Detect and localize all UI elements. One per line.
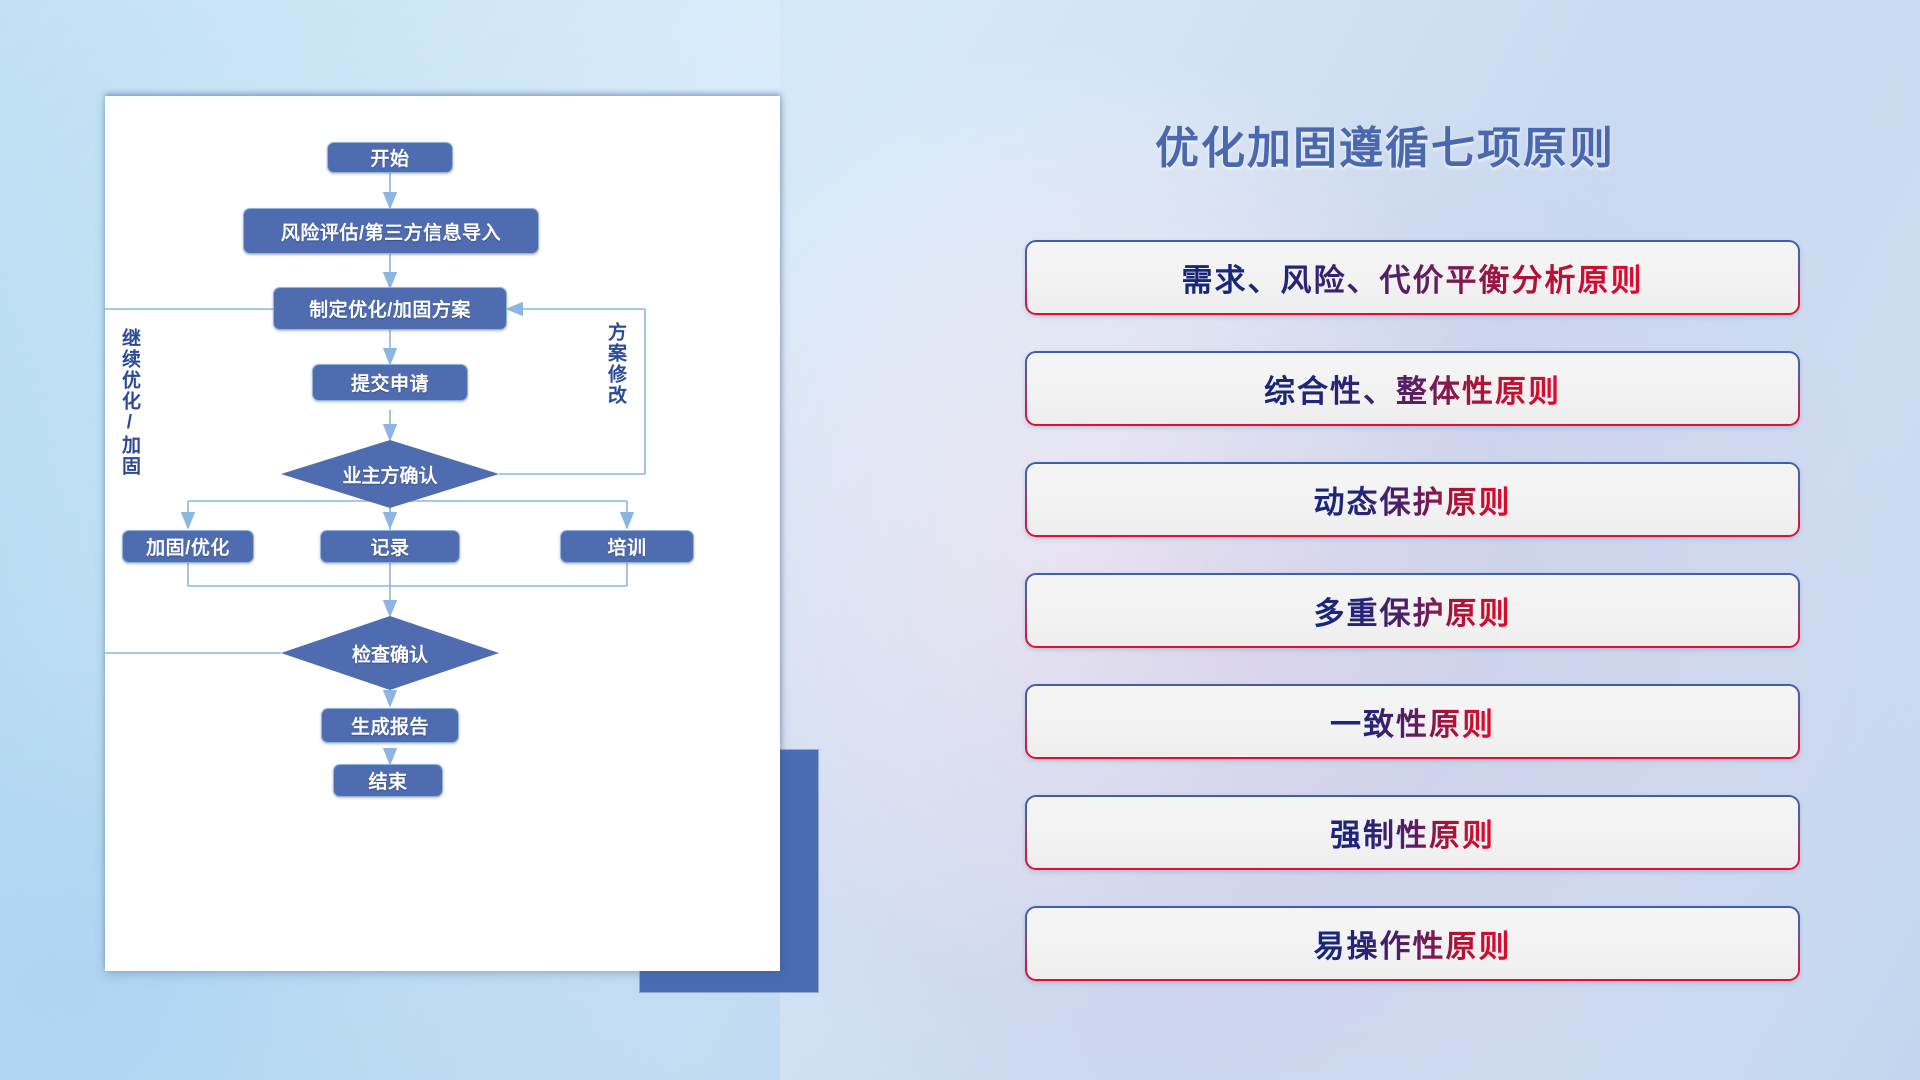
flowchart-card: 开始 风险评估/第三方信息导入 制定优化/加固方案 提交申请 业主方确认 加固/… [105, 96, 780, 971]
principle-inner: 一致性原则 [1027, 686, 1798, 757]
flow-node-end-label: 结束 [368, 767, 407, 794]
principle-inner: 多重保护原则 [1027, 575, 1798, 646]
flow-node-report[interactable]: 生成报告 [321, 708, 459, 743]
principle-label: 动态保护原则 [1314, 477, 1512, 522]
flow-node-reinforce-label: 加固/优化 [146, 533, 230, 560]
principle-inner: 动态保护原则 [1027, 464, 1798, 535]
flow-node-end[interactable]: 结束 [333, 764, 443, 797]
principle-item[interactable]: 多重保护原则 [1025, 573, 1800, 648]
principle-item[interactable]: 综合性、整体性原则 [1025, 351, 1800, 426]
flow-node-risk-assessment[interactable]: 风险评估/第三方信息导入 [243, 208, 539, 254]
flow-node-start[interactable]: 开始 [327, 142, 453, 173]
principle-item[interactable]: 需求、风险、代价平衡分析原则 [1025, 240, 1800, 315]
principle-label: 多重保护原则 [1314, 588, 1512, 633]
flow-node-start-label: 开始 [370, 144, 409, 171]
principle-label: 强制性原则 [1330, 810, 1495, 855]
flow-node-training[interactable]: 培训 [560, 530, 694, 563]
edge-label-continue-optimize: 继续优化/加固 [119, 328, 139, 477]
flow-node-risk-assessment-label: 风险评估/第三方信息导入 [281, 218, 501, 245]
flow-node-record-label: 记录 [370, 533, 409, 560]
principle-inner: 强制性原则 [1027, 797, 1798, 868]
flow-node-owner-confirm-label: 业主方确认 [342, 461, 437, 488]
flow-node-plan[interactable]: 制定优化/加固方案 [273, 287, 507, 330]
flow-node-record[interactable]: 记录 [320, 530, 460, 563]
principle-label: 一致性原则 [1330, 699, 1495, 744]
principle-inner: 易操作性原则 [1027, 908, 1798, 979]
principle-item[interactable]: 易操作性原则 [1025, 906, 1800, 981]
page-title: 优化加固遵循七项原则 [1155, 112, 1615, 176]
principle-item[interactable]: 动态保护原则 [1025, 462, 1800, 537]
flow-node-training-label: 培训 [607, 533, 646, 560]
principle-item[interactable]: 一致性原则 [1025, 684, 1800, 759]
principle-inner: 需求、风险、代价平衡分析原则 [1027, 242, 1798, 313]
edge-label-plan-revision: 方案修改 [605, 322, 625, 406]
flow-node-submit-label: 提交申请 [351, 369, 429, 396]
flow-node-inspect-confirm-label: 检查确认 [352, 640, 428, 667]
flow-node-plan-label: 制定优化/加固方案 [309, 295, 471, 322]
principle-label: 需求、风险、代价平衡分析原则 [1182, 255, 1644, 300]
principle-label: 易操作性原则 [1314, 921, 1512, 966]
principle-item[interactable]: 强制性原则 [1025, 795, 1800, 870]
principles-list: 需求、风险、代价平衡分析原则 综合性、整体性原则 动态保护原则 多重保护原则 一… [1025, 240, 1800, 1017]
principle-label: 综合性、整体性原则 [1264, 366, 1561, 411]
flow-node-report-label: 生成报告 [351, 712, 429, 739]
flow-node-reinforce[interactable]: 加固/优化 [122, 530, 254, 563]
flow-node-submit[interactable]: 提交申请 [312, 364, 468, 401]
principle-inner: 综合性、整体性原则 [1027, 353, 1798, 424]
